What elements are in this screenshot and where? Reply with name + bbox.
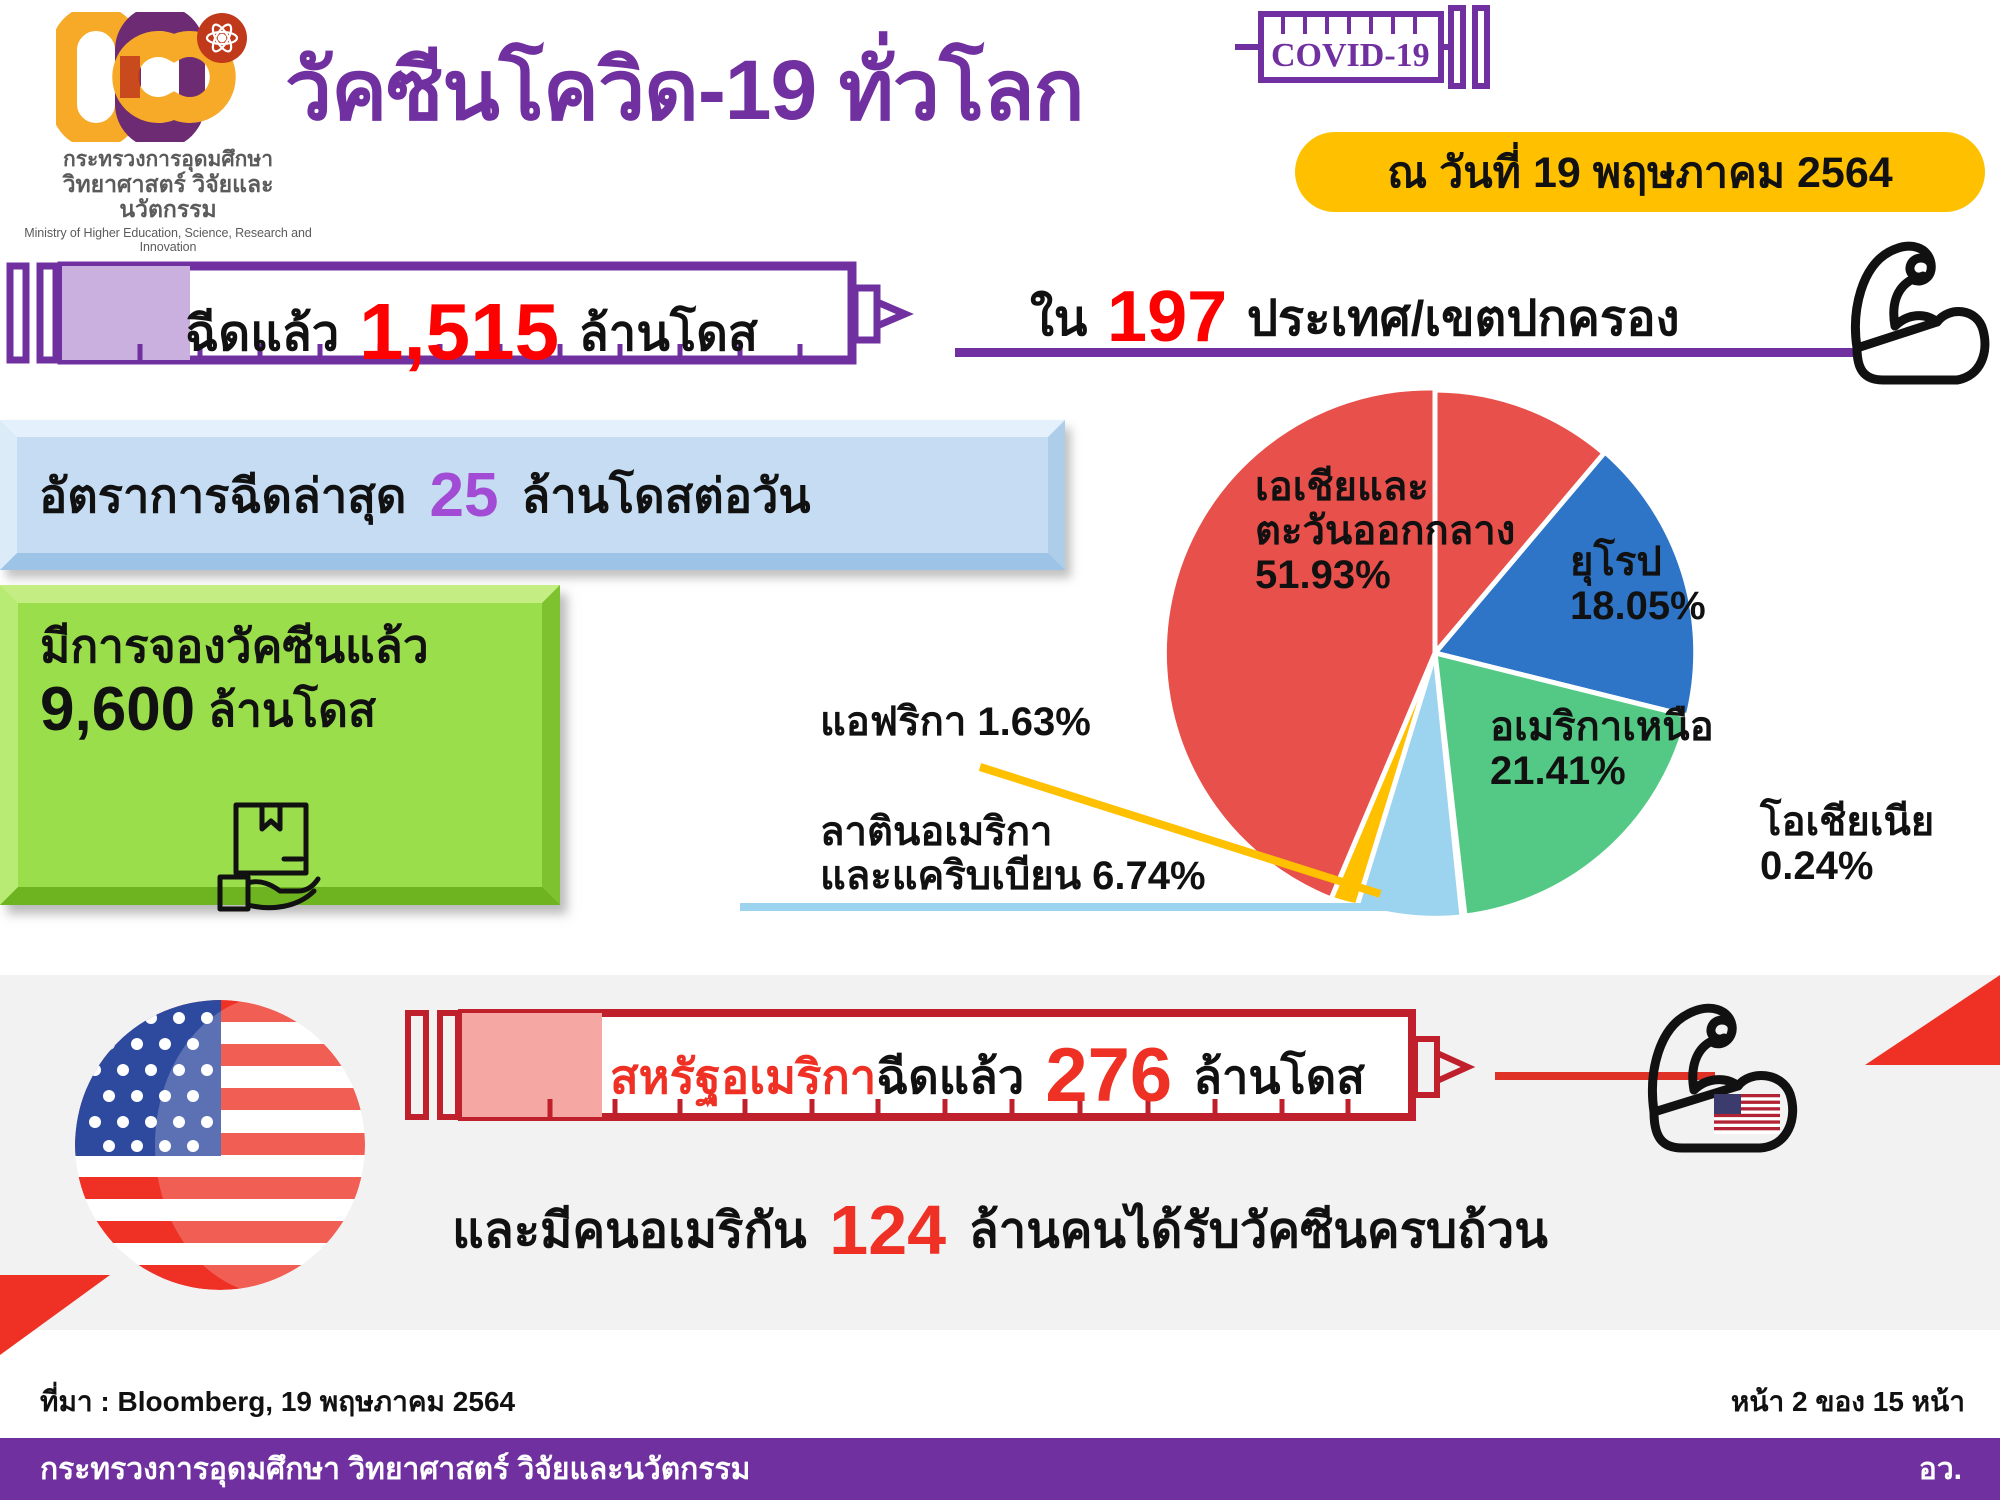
pie-label-oceania-name: โอเชียเนีย xyxy=(1760,800,1934,844)
usa-fully-value: 124 xyxy=(820,1191,955,1269)
package-in-hand-icon xyxy=(214,793,339,913)
date-badge-text: ณ วันที่ 19 พฤษภาคม 2564 xyxy=(1387,138,1892,206)
countries-suffix: ประเทศ/เขตปกครอง xyxy=(1247,292,1680,346)
countries-text: ใน 197 ประเทศ/เขตปกครอง xyxy=(1030,276,1680,358)
pie-label-asia-line2: ตะวันออกกลาง xyxy=(1255,509,1515,553)
page-title: วัคซีนโควิด-19 ทั่วโลก xyxy=(285,22,1084,156)
date-badge: ณ วันที่ 19 พฤษภาคม 2564 xyxy=(1295,132,1985,212)
pie-label-europe-pct: 18.05% xyxy=(1570,584,1706,628)
reserved-doses-line2: 9,600 ล้านโดส xyxy=(40,673,542,747)
footer-ministry-name: กระทรวงการอุดมศึกษา วิทยาศาสตร์ วิจัยและ… xyxy=(0,1446,750,1493)
decor-triangle-bottom-left xyxy=(0,1275,110,1355)
logo-mark-icon xyxy=(56,12,256,142)
usa-fully-prefix: และมีคนอเมริกัน xyxy=(452,1204,806,1258)
usa-doses-value: 276 xyxy=(1037,1033,1180,1118)
daily-rate-suffix: ล้านโดสต่อวัน xyxy=(522,469,811,522)
pie-label-north-america: อเมริกาเหนือ 21.41% xyxy=(1490,705,1714,793)
flexed-arm-icon xyxy=(1845,230,1995,390)
footer-abbreviation: อว. xyxy=(1919,1446,2000,1493)
usa-doses-prefix: ฉีดแล้ว xyxy=(876,1050,1024,1103)
flexed-arm-usa-flag-icon xyxy=(1640,990,1820,1160)
countries-value: 197 xyxy=(1101,277,1233,357)
pie-label-africa: แอฟริกา 1.63% xyxy=(820,700,1091,744)
usa-fully-vaccinated-text: และมีคนอเมริกัน 124 ล้านคนได้รับวัคซีนคร… xyxy=(0,1190,2000,1270)
latin-america-leader-line xyxy=(740,903,1440,911)
usa-country-label: สหรัฐอเมริกา xyxy=(610,1050,876,1103)
reserved-doses-value: 9,600 xyxy=(40,675,195,744)
logo-text-line3: Ministry of Higher Education, Science, R… xyxy=(18,226,318,254)
usa-doses-text: สหรัฐอเมริกาฉีดแล้ว 276 ล้านโดส xyxy=(610,1032,1365,1119)
global-doses-suffix: ล้านโดส xyxy=(579,307,758,361)
covid19-syringe-icon: COVID-19 xyxy=(1235,2,1525,92)
pie-label-latin-america-line2: และแคริบเบียน 6.74% xyxy=(820,854,1206,898)
reserved-doses-line1: มีการจองวัคซีนแล้ว xyxy=(40,621,542,673)
global-doses-text: ฉีดแล้ว 1,515 ล้านโดส xyxy=(185,286,758,378)
countries-prefix: ใน xyxy=(1030,292,1087,346)
logo-text-line1: กระทรวงการอุดมศึกษา xyxy=(18,148,318,172)
ministry-logo: กระทรวงการอุดมศึกษา วิทยาศาสตร์ วิจัยและ… xyxy=(18,8,318,213)
logo-text-line2: วิทยาศาสตร์ วิจัยและนวัตกรรม xyxy=(18,172,318,224)
pie-label-asia-pct: 51.93% xyxy=(1255,553,1515,597)
decor-triangle-top-right xyxy=(1865,975,2000,1065)
page-number: หน้า 2 ของ 15 หน้า xyxy=(1731,1380,1965,1424)
reserved-doses-box: มีการจองวัคซีนแล้ว 9,600 ล้านโดส xyxy=(0,585,560,905)
reserved-doses-suffix: ล้านโดส xyxy=(208,684,376,736)
daily-rate-text: อัตราการฉีดล่าสุด 25 ล้านโดสต่อวัน xyxy=(17,458,811,533)
pie-label-europe-name: ยุโรป xyxy=(1570,540,1706,584)
daily-rate-prefix: อัตราการฉีดล่าสุด xyxy=(39,469,406,522)
pie-label-oceania-pct: 0.24% xyxy=(1760,844,1934,888)
footer-bar: กระทรวงการอุดมศึกษา วิทยาศาสตร์ วิจัยและ… xyxy=(0,1438,2000,1500)
global-doses-prefix: ฉีดแล้ว xyxy=(185,307,339,361)
usa-doses-suffix: ล้านโดส xyxy=(1193,1050,1365,1103)
global-doses-value: 1,515 xyxy=(353,287,565,376)
pie-label-oceania: โอเชียเนีย 0.24% xyxy=(1760,800,1934,888)
usa-fully-suffix: ล้านคนได้รับวัคซีนครบถ้วน xyxy=(969,1204,1548,1258)
daily-rate-value: 25 xyxy=(419,461,508,530)
covid19-syringe-label: COVID-19 xyxy=(1271,37,1430,74)
pie-label-africa-text: แอฟริกา 1.63% xyxy=(820,700,1091,744)
pie-label-north-america-pct: 21.41% xyxy=(1490,749,1714,793)
pie-label-asia-line1: เอเชียและ xyxy=(1255,465,1515,509)
pie-label-asia: เอเชียและ ตะวันออกกลาง 51.93% xyxy=(1255,465,1515,597)
pie-label-europe: ยุโรป 18.05% xyxy=(1570,540,1706,628)
source-note: ที่มา : Bloomberg, 19 พฤษภาคม 2564 xyxy=(40,1380,515,1424)
daily-rate-box: อัตราการฉีดล่าสุด 25 ล้านโดสต่อวัน xyxy=(0,420,1065,570)
pie-label-north-america-name: อเมริกาเหนือ xyxy=(1490,705,1714,749)
